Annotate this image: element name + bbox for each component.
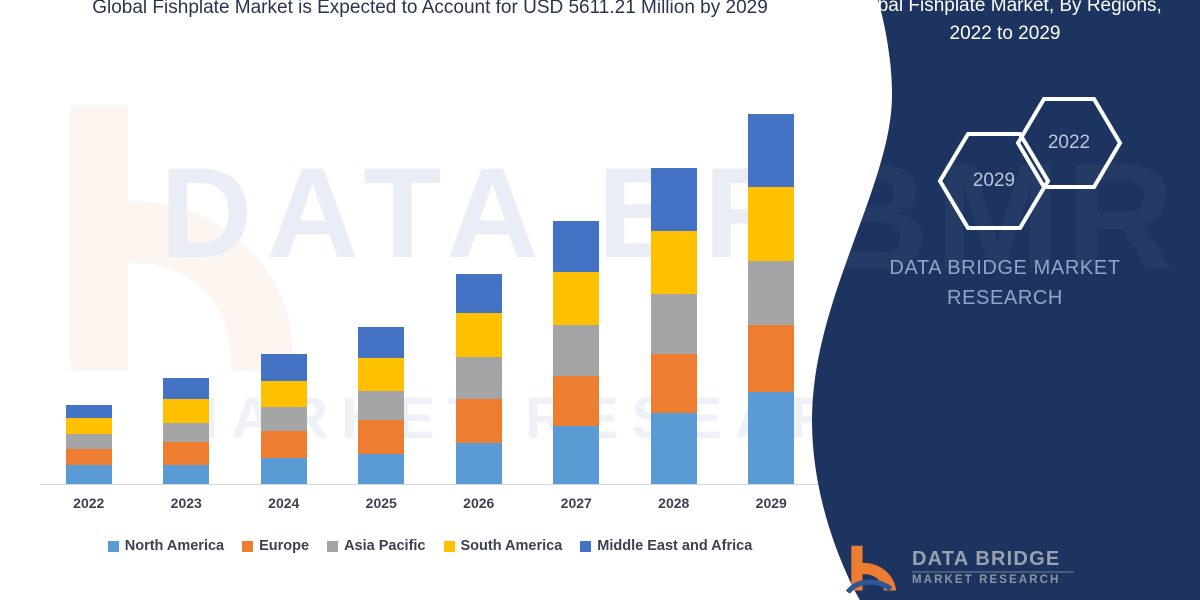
- bar-group: [748, 114, 794, 484]
- legend-swatch: [242, 541, 253, 552]
- x-axis-tick: 2024: [261, 495, 307, 511]
- bar-segment: [553, 325, 599, 376]
- panel-title: Global Fishplate Market, By Regions, 202…: [840, 0, 1170, 48]
- x-axis-tick: 2027: [553, 495, 599, 511]
- bar-segment: [748, 392, 794, 484]
- bar-segment: [261, 407, 307, 431]
- bar-segment: [358, 420, 404, 454]
- bar-segment: [358, 327, 404, 358]
- legend-label: Middle East and Africa: [597, 538, 752, 554]
- bar-container: [40, 60, 820, 484]
- legend-label: Europe: [259, 538, 309, 554]
- legend-label: Asia Pacific: [344, 538, 425, 554]
- bar-segment: [651, 413, 697, 484]
- bar-segment: [66, 418, 112, 434]
- hexagon-badges: 2022 2029: [904, 95, 1124, 245]
- hex-badge-2029-label: 2029: [973, 170, 1015, 192]
- hex-badge-2029: 2029: [936, 130, 1052, 232]
- bar-segment: [261, 431, 307, 458]
- logo-wordmark: DATA BRIDGE: [912, 548, 1060, 571]
- bar-segment: [163, 442, 209, 465]
- bar-segment: [651, 294, 697, 353]
- bar-segment: [748, 187, 794, 261]
- bar-segment: [358, 454, 404, 484]
- legend-item[interactable]: Asia Pacific: [327, 538, 425, 554]
- bar-segment: [553, 221, 599, 272]
- bar-segment: [66, 465, 112, 484]
- brand-line-2: RESEARCH: [840, 283, 1170, 313]
- bar-segment: [163, 399, 209, 422]
- legend-swatch: [580, 541, 591, 552]
- bar-segment: [456, 399, 502, 442]
- bar-segment: [553, 272, 599, 325]
- brand-line-1: DATA BRIDGE MARKET: [840, 253, 1170, 283]
- infographic-root: DATA BR MARKET RESEARCH Global Fishplate…: [0, 0, 1200, 600]
- chart-legend: North AmericaEuropeAsia PacificSouth Ame…: [40, 538, 820, 554]
- bar-segment: [163, 465, 209, 484]
- bar-segment: [456, 313, 502, 356]
- bar-segment: [748, 114, 794, 187]
- x-axis-tick: 2022: [66, 495, 112, 511]
- legend-item[interactable]: South America: [444, 538, 563, 554]
- legend-item[interactable]: North America: [108, 538, 224, 554]
- bar-segment: [748, 261, 794, 325]
- bar-segment: [261, 381, 307, 406]
- brand-name: DATA BRIDGE MARKET RESEARCH: [840, 253, 1170, 313]
- bridge-logo-icon: [846, 544, 898, 594]
- bar-segment: [358, 358, 404, 391]
- legend-swatch: [108, 541, 119, 552]
- bar-segment: [358, 391, 404, 421]
- legend-label: South America: [461, 538, 563, 554]
- x-axis-tick: 2023: [163, 495, 209, 511]
- legend-swatch: [444, 541, 455, 552]
- legend-swatch: [327, 541, 338, 552]
- bar-group: [261, 354, 307, 484]
- x-axis-tick: 2029: [748, 495, 794, 511]
- logo-tagline: MARKET RESEARCH: [912, 574, 1060, 586]
- chart-title: Global Fishplate Market is Expected to A…: [40, 0, 820, 22]
- x-axis-labels: 20222023202420252026202720282029: [40, 495, 820, 511]
- bar-group: [163, 378, 209, 484]
- x-axis-line: [40, 484, 820, 485]
- bar-segment: [456, 443, 502, 484]
- legend-item[interactable]: Europe: [242, 538, 309, 554]
- company-logo: DATA BRIDGE MARKET RESEARCH: [846, 540, 1086, 600]
- bar-segment: [651, 231, 697, 295]
- bar-segment: [553, 426, 599, 484]
- bar-group: [553, 221, 599, 484]
- bar-group: [456, 274, 502, 484]
- x-axis-tick: 2025: [358, 495, 404, 511]
- hex-badge-2022-label: 2022: [1048, 132, 1090, 154]
- bar-segment: [456, 357, 502, 399]
- x-axis-tick: 2026: [456, 495, 502, 511]
- bar-segment: [66, 449, 112, 465]
- bar-segment: [261, 458, 307, 485]
- bar-segment: [651, 354, 697, 413]
- legend-label: North America: [125, 538, 224, 554]
- bar-group: [358, 327, 404, 484]
- bar-segment: [261, 354, 307, 382]
- bar-group: [66, 405, 112, 484]
- x-axis-tick: 2028: [651, 495, 697, 511]
- bar-segment: [456, 274, 502, 313]
- bar-segment: [66, 434, 112, 449]
- logo-divider: [912, 571, 1074, 573]
- bar-group: [651, 168, 697, 484]
- bar-segment: [66, 405, 112, 419]
- bar-segment: [651, 168, 697, 231]
- bar-segment: [163, 378, 209, 399]
- bar-segment: [748, 325, 794, 392]
- bar-segment: [553, 376, 599, 426]
- bar-segment: [163, 423, 209, 442]
- legend-item[interactable]: Middle East and Africa: [580, 538, 752, 554]
- plot-area: [40, 60, 820, 485]
